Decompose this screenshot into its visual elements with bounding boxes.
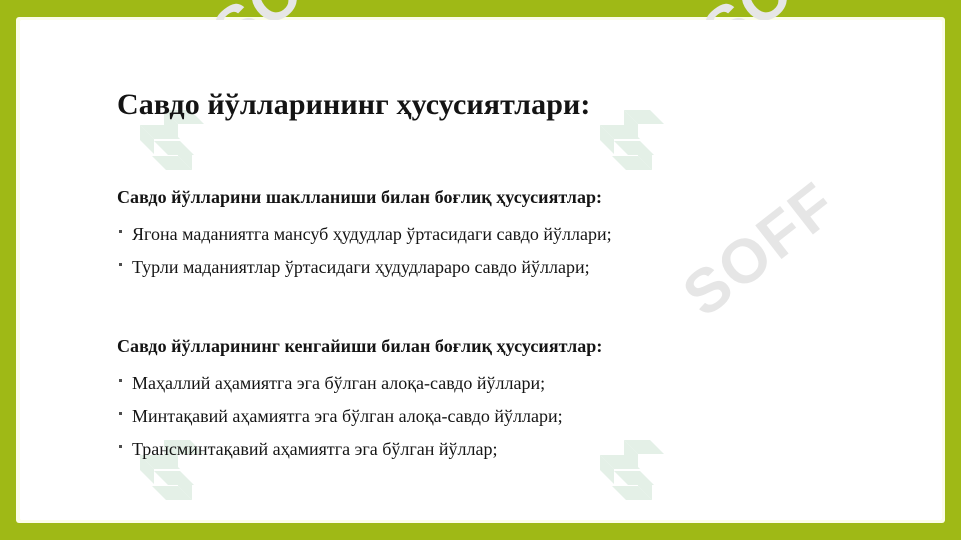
section-formation: Савдо йўлларини шаклланиши билан боғлиқ … bbox=[117, 187, 612, 284]
bullet-marker-icon bbox=[119, 263, 122, 266]
section-heading: Савдо йўлларини шаклланиши билан боғлиқ … bbox=[117, 187, 612, 208]
list-item-label: Маҳаллий аҳамиятга эга бўлган алоқа-савд… bbox=[132, 373, 545, 393]
list-item: Минтақавий аҳамиятга эга бўлган алоқа-са… bbox=[117, 400, 602, 433]
bullet-marker-icon bbox=[119, 379, 122, 382]
bullet-marker-icon bbox=[119, 412, 122, 415]
list-item: Ягона маданиятга мансуб ҳудудлар ўртасид… bbox=[117, 218, 612, 251]
bullet-marker-icon bbox=[119, 230, 122, 233]
bullet-marker-icon bbox=[119, 445, 122, 448]
list-item: Маҳаллий аҳамиятга эга бўлган алоқа-савд… bbox=[117, 367, 602, 400]
list-item: Трансминтақавий аҳамиятга эга бўлган йўл… bbox=[117, 433, 602, 466]
list-item-label: Турли маданиятлар ўртасидаги ҳудудлараро… bbox=[132, 257, 590, 277]
bullet-list: Маҳаллий аҳамиятга эга бўлган алоқа-савд… bbox=[117, 367, 602, 466]
bullet-list: Ягона маданиятга мансуб ҳудудлар ўртасид… bbox=[117, 218, 612, 284]
presentation-slide: SOFF SOFF bbox=[0, 0, 961, 540]
soff-hexagon-logo bbox=[590, 438, 674, 504]
page-title: Савдо йўлларининг ҳусусиятлари: bbox=[117, 88, 590, 122]
section-heading: Савдо йўлларининг кенгайиши билан боғлиқ… bbox=[117, 336, 602, 357]
section-expansion: Савдо йўлларининг кенгайиши билан боғлиқ… bbox=[117, 336, 602, 466]
slide-content-card: SOFF Савдо йўлларининг ҳусусиятлари: Сав… bbox=[20, 20, 942, 520]
watermark-text-middle-right: SOFF bbox=[670, 168, 850, 331]
list-item-label: Трансминтақавий аҳамиятга эга бўлган йўл… bbox=[132, 439, 498, 459]
list-item-label: Ягона маданиятга мансуб ҳудудлар ўртасид… bbox=[132, 224, 612, 244]
list-item: Турли маданиятлар ўртасидаги ҳудудлараро… bbox=[117, 251, 612, 284]
list-item-label: Минтақавий аҳамиятга эга бўлган алоқа-са… bbox=[132, 406, 563, 426]
soff-hexagon-logo bbox=[590, 108, 674, 174]
